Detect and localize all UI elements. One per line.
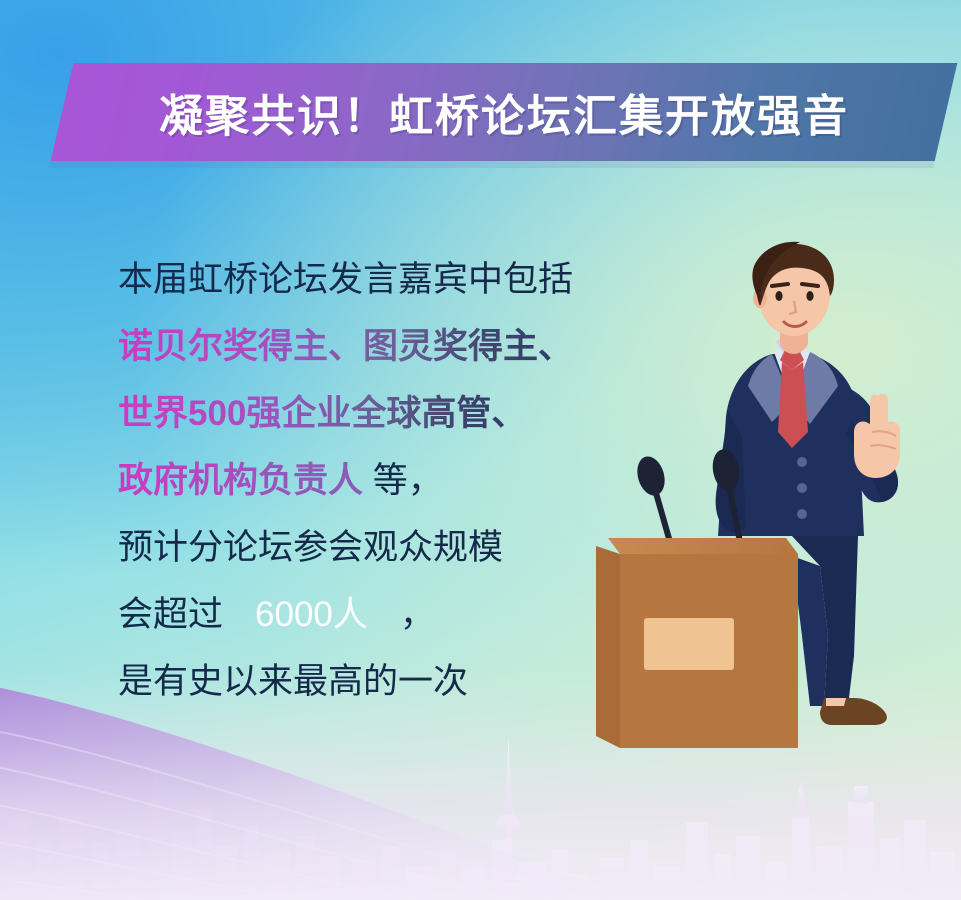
speaker-at-podium-illustration [596, 236, 961, 756]
body-line-2: 诺贝尔奖得主、图灵奖得主、 [118, 313, 638, 380]
body-line-3: 世界500强企业全球高管、 [118, 380, 638, 447]
poster-root: 凝聚共识！虹桥论坛汇集开放强音 [0, 0, 961, 900]
body-line-5: 预计分论坛参会观众规模 [118, 514, 638, 581]
microphone-left [633, 453, 670, 542]
body-line-6-prefix: 会超过 [118, 595, 223, 634]
shoe-right [820, 698, 887, 725]
highlight-government: 政府机构负责人 [118, 461, 363, 500]
head [752, 242, 834, 336]
body-line-1: 本届虹桥论坛发言嘉宾中包括 [118, 246, 638, 313]
body-line-7: 是有史以来最高的一次 [118, 648, 638, 715]
attendance-count-badge: 6000人 [229, 587, 394, 646]
body-line-6-suffix: ， [400, 595, 435, 634]
podium-plaque [644, 618, 734, 670]
page-title: 凝聚共识！虹桥论坛汇集开放强音 [62, 63, 946, 161]
body-copy: 本届虹桥论坛发言嘉宾中包括 诺贝尔奖得主、图灵奖得主、 世界500强企业全球高管… [118, 246, 638, 715]
trousers [792, 536, 858, 706]
body-line-4-tail: 等， [363, 461, 443, 500]
body-line-6: 会超过6000人， [118, 581, 638, 648]
body-line-4: 政府机构负责人 等， [118, 447, 638, 514]
highlight-nobel-turing: 诺贝尔奖得主、图灵奖得主、 [118, 327, 573, 366]
highlight-fortune500: 世界500强企业全球高管、 [118, 394, 526, 433]
